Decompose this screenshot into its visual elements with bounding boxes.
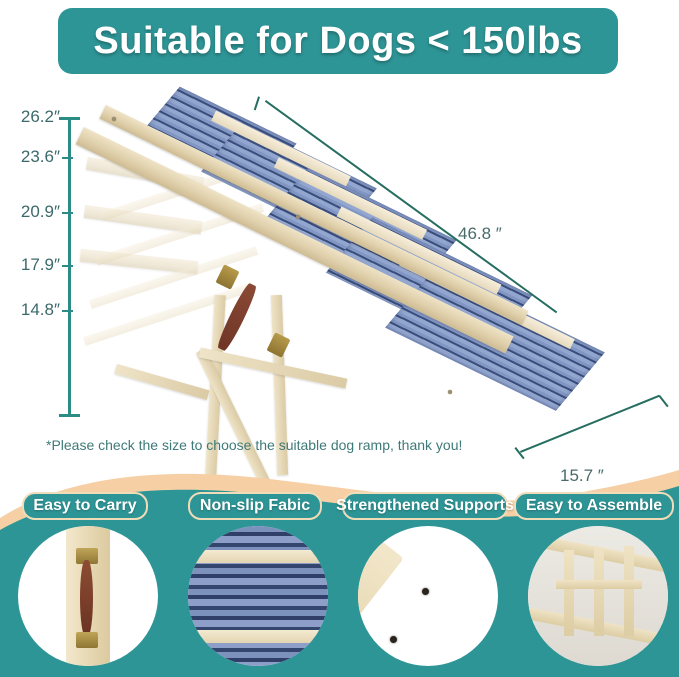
ramp-deck [118, 105, 548, 465]
screw [296, 215, 300, 219]
frame-crossbar [556, 580, 642, 589]
handle-bracket-icon [76, 632, 98, 648]
screw [112, 117, 116, 121]
feature-image-fabric [188, 526, 328, 666]
infographic-canvas: Suitable for Dogs < 150lbs 26.2″ 23.6″ 2… [0, 0, 679, 677]
size-note: *Please check the size to choose the sui… [46, 437, 462, 453]
screw-icon [390, 636, 397, 643]
height-label-4: 17.9″ [21, 255, 60, 275]
carpet-texture [188, 526, 328, 666]
frame-strut [564, 550, 574, 636]
screw-icon [422, 588, 429, 595]
frame-strut [624, 546, 634, 636]
feature-panel-carry[interactable]: Easy to Carry [0, 470, 170, 677]
length-label: 46.8 ″ [458, 224, 502, 244]
feature-label-assemble: Easy to Assemble [526, 497, 662, 515]
wood-strip [188, 550, 328, 563]
width-dim-arrow [659, 395, 669, 407]
wood-strip [188, 630, 328, 643]
ruler-tick [62, 117, 73, 119]
height-label-2: 23.6″ [21, 147, 60, 167]
feature-pill-assemble[interactable]: Easy to Assemble [514, 492, 674, 520]
feature-label-carry: Easy to Carry [33, 497, 136, 515]
feature-pill-fabric[interactable]: Non-slip Fabic [188, 492, 322, 520]
feature-panel-fabric[interactable]: Non-slip Fabic [170, 470, 340, 677]
ruler-tick [62, 157, 73, 159]
feature-label-fabric: Non-slip Fabic [200, 497, 310, 515]
height-label-5: 14.8″ [21, 300, 60, 320]
feature-pill-supports[interactable]: Strengthened Supports [342, 492, 508, 520]
ruler-tick [62, 310, 73, 312]
ruler-tick [62, 265, 73, 267]
feature-panel-supports[interactable]: Strengthened Supports [340, 470, 510, 677]
feature-image-carry [18, 526, 158, 666]
screw [448, 390, 452, 394]
feature-label-supports: Strengthened Supports [336, 497, 514, 515]
ruler-tick [62, 212, 73, 214]
ramp-side-rail-top [99, 105, 528, 325]
feature-pill-carry[interactable]: Easy to Carry [22, 492, 148, 520]
frame-strut [594, 548, 604, 636]
ruler-cap-bottom [59, 414, 80, 417]
wood-support-bar [358, 534, 404, 666]
feature-panel-assemble[interactable]: Easy to Assemble [510, 470, 679, 677]
leather-handle-icon [80, 560, 93, 636]
header-banner: Suitable for Dogs < 150lbs [58, 8, 618, 74]
feature-image-assemble [528, 526, 668, 666]
feature-strip: Easy to Carry Non-slip Fabic Strengthene… [0, 470, 679, 677]
height-label-3: 20.9″ [21, 202, 60, 222]
height-label-1: 26.2″ [21, 107, 60, 127]
product-illustration [78, 95, 648, 485]
feature-image-supports [358, 526, 498, 666]
banner-title: Suitable for Dogs < 150lbs [93, 20, 582, 63]
